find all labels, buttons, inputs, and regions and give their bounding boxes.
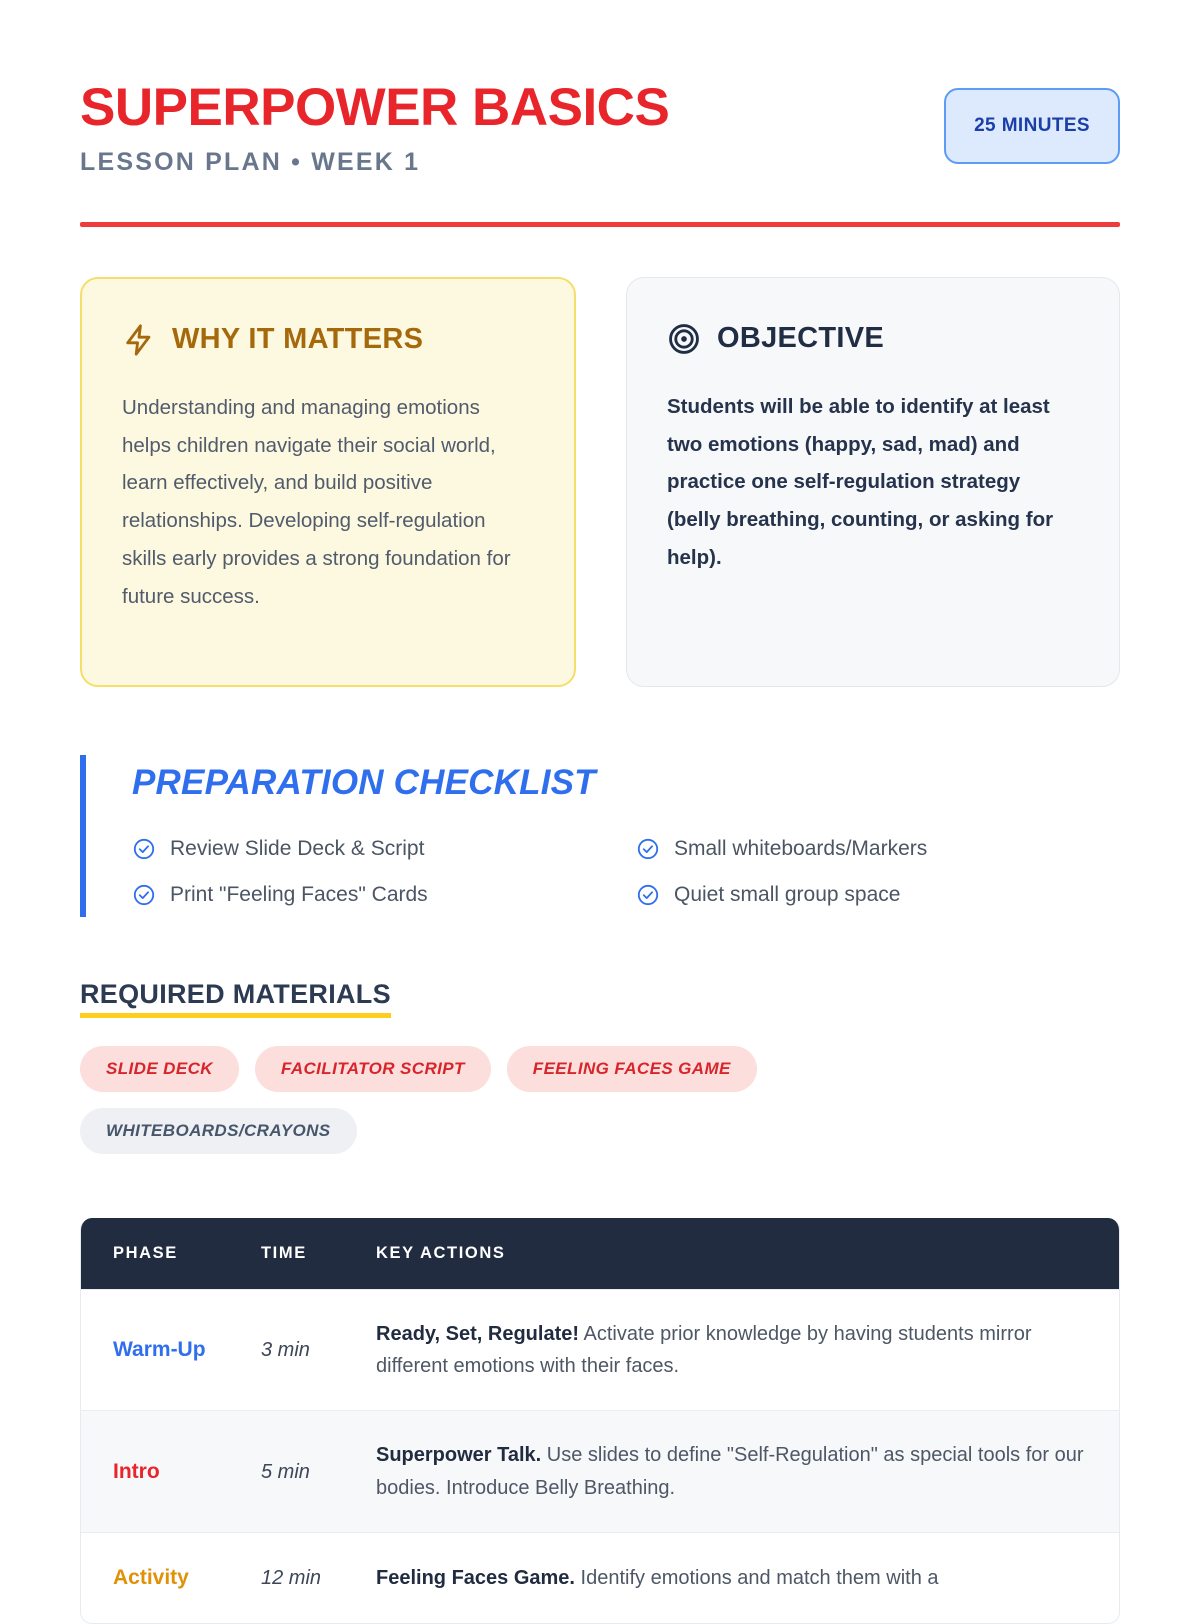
- check-circle-icon: [636, 883, 660, 907]
- lightning-bolt-icon: [122, 323, 156, 357]
- preparation-checklist: PREPARATION CHECKLIST Review Slide Deck …: [80, 755, 1120, 917]
- row-phase: Intro: [81, 1411, 241, 1533]
- row-time: 5 min: [241, 1411, 356, 1533]
- material-pill[interactable]: SLIDE DECK: [80, 1046, 239, 1092]
- page-header: SUPERPOWER BASICS LESSON PLAN • WEEK 1 2…: [80, 78, 1120, 177]
- checklist-item[interactable]: Quiet small group space: [636, 883, 1120, 907]
- preparation-title: PREPARATION CHECKLIST: [132, 763, 1120, 803]
- info-cards: WHY IT MATTERS Understanding and managin…: [80, 277, 1120, 687]
- column-header-phase: PHASE: [81, 1218, 241, 1290]
- row-action-lead: Ready, Set, Regulate!: [376, 1323, 579, 1345]
- materials-title: REQUIRED MATERIALS: [80, 979, 391, 1018]
- column-header-action: KEY ACTIONS: [356, 1218, 1119, 1290]
- check-circle-icon: [132, 883, 156, 907]
- row-time: 12 min: [241, 1533, 356, 1624]
- checklist-item-label: Small whiteboards/Markers: [674, 837, 927, 861]
- checklist-item-label: Review Slide Deck & Script: [170, 837, 424, 861]
- table-row: Activity 12 min Feeling Faces Game. Iden…: [81, 1533, 1119, 1624]
- objective-card: OBJECTIVE Students will be able to ident…: [626, 277, 1120, 687]
- checklist-item[interactable]: Print "Feeling Faces" Cards: [132, 883, 616, 907]
- page-subtitle: LESSON PLAN • WEEK 1: [80, 148, 669, 177]
- objective-card-header: OBJECTIVE: [667, 322, 1079, 356]
- material-pill[interactable]: FEELING FACES GAME: [507, 1046, 757, 1092]
- checklist-item-label: Quiet small group space: [674, 883, 900, 907]
- checklist-item[interactable]: Review Slide Deck & Script: [132, 837, 616, 861]
- why-card-body: Understanding and managing emotions help…: [122, 389, 534, 617]
- row-action-lead: Feeling Faces Game.: [376, 1567, 575, 1589]
- row-action-rest: Identify emotions and match them with a: [575, 1567, 939, 1589]
- column-header-time: TIME: [241, 1218, 356, 1290]
- row-action-lead: Superpower Talk.: [376, 1444, 541, 1466]
- row-phase: Warm-Up: [81, 1289, 241, 1411]
- row-action: Feeling Faces Game. Identify emotions an…: [356, 1533, 1119, 1624]
- material-pill[interactable]: FACILITATOR SCRIPT: [255, 1046, 491, 1092]
- table-header-row: PHASE TIME KEY ACTIONS: [81, 1218, 1119, 1290]
- checklist-item-label: Print "Feeling Faces" Cards: [170, 883, 428, 907]
- why-it-matters-card: WHY IT MATTERS Understanding and managin…: [80, 277, 576, 687]
- check-circle-icon: [132, 837, 156, 861]
- row-action: Superpower Talk. Use slides to define "S…: [356, 1411, 1119, 1533]
- why-card-header: WHY IT MATTERS: [122, 323, 534, 357]
- objective-card-title: OBJECTIVE: [717, 322, 884, 355]
- lesson-plan-page: SUPERPOWER BASICS LESSON PLAN • WEEK 1 2…: [0, 0, 1200, 1624]
- schedule-table: PHASE TIME KEY ACTIONS Warm-Up 3 min Rea…: [80, 1218, 1120, 1624]
- duration-badge: 25 MINUTES: [944, 88, 1120, 164]
- materials-pills: SLIDE DECK FACILITATOR SCRIPT FEELING FA…: [80, 1046, 820, 1154]
- material-pill[interactable]: WHITEBOARDS/CRAYONS: [80, 1108, 357, 1154]
- row-time: 3 min: [241, 1289, 356, 1411]
- objective-card-body: Students will be able to identify at lea…: [667, 388, 1079, 578]
- target-icon: [667, 322, 701, 356]
- check-circle-icon: [636, 837, 660, 861]
- header-divider: [80, 222, 1120, 227]
- checklist-item[interactable]: Small whiteboards/Markers: [636, 837, 1120, 861]
- row-action: Ready, Set, Regulate! Activate prior kno…: [356, 1289, 1119, 1411]
- preparation-items: Review Slide Deck & Script Small whitebo…: [132, 837, 1120, 907]
- required-materials: REQUIRED MATERIALS SLIDE DECK FACILITATO…: [80, 979, 1120, 1154]
- table-row: Intro 5 min Superpower Talk. Use slides …: [81, 1411, 1119, 1533]
- header-text-group: SUPERPOWER BASICS LESSON PLAN • WEEK 1: [80, 78, 669, 177]
- why-card-title: WHY IT MATTERS: [172, 323, 423, 356]
- row-phase: Activity: [81, 1533, 241, 1624]
- page-title: SUPERPOWER BASICS: [80, 80, 669, 136]
- table-row: Warm-Up 3 min Ready, Set, Regulate! Acti…: [81, 1289, 1119, 1411]
